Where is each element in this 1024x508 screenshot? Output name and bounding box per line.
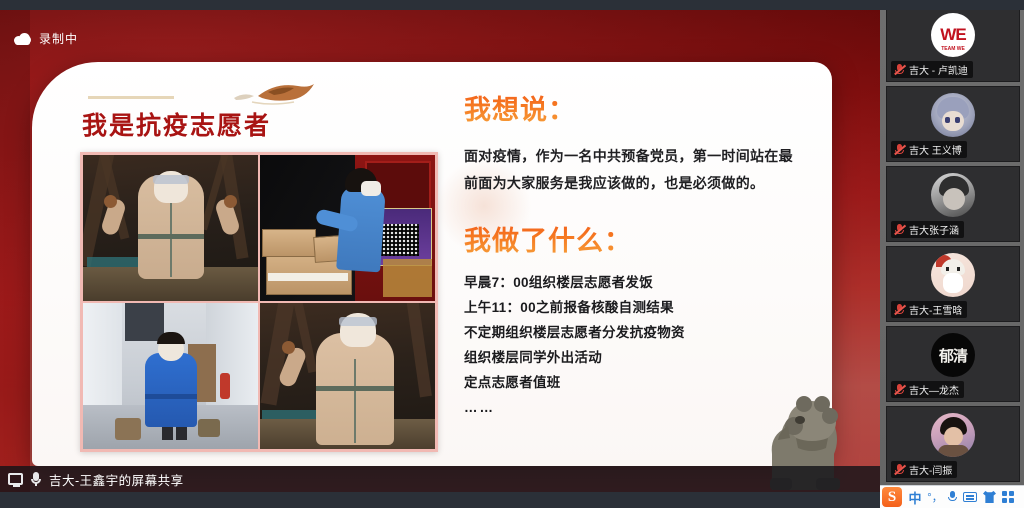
slide-text-column: 我想说： 面对疫情，作为一名中共预备党员，第一时间站在最前面为大家服务是我应该做… bbox=[464, 88, 794, 420]
list-item: 上午11：00之前报备核酸自测结果 bbox=[464, 295, 794, 320]
photo-volunteer-tan-ppe-thumbs-up bbox=[83, 155, 258, 301]
recording-badge: 录制中 bbox=[14, 30, 78, 47]
skin-shirt-icon[interactable] bbox=[983, 491, 996, 503]
mic-muted-icon bbox=[894, 384, 905, 396]
punctuation-toggle-icon[interactable]: °， bbox=[928, 489, 942, 505]
participant-name: 吉大 - 卢凯迪 bbox=[909, 62, 968, 77]
participant-tile[interactable]: WETEAM WE 吉大 - 卢凯迪 bbox=[886, 6, 1020, 82]
anime-character-avatar bbox=[931, 93, 975, 137]
page-title: 我是抗疫志愿者 bbox=[82, 106, 271, 142]
microphone-icon[interactable] bbox=[30, 472, 42, 486]
we-team-logo-avatar: WETEAM WE bbox=[931, 13, 975, 57]
heading-what-i-did: 我做了什么： bbox=[464, 219, 794, 258]
participant-nameplate: 吉大 - 卢凯迪 bbox=[891, 61, 973, 78]
participant-name: 吉大—龙杰 bbox=[909, 382, 959, 397]
participant-nameplate: 吉大—龙杰 bbox=[891, 381, 964, 398]
slide-paragraph: 面对疫情，作为一名中共预备党员，第一时间站在最前面为大家服务是我应该做的，也是必… bbox=[464, 143, 794, 197]
recording-label: 录制中 bbox=[39, 30, 78, 47]
brush-ornament-icon bbox=[228, 76, 320, 110]
cloud-icon bbox=[14, 33, 31, 45]
list-item: 不定期组织楼层志愿者分发抗疫物资 bbox=[464, 320, 794, 345]
presentation-slide: 我是抗疫志愿者 bbox=[32, 62, 832, 466]
mic-muted-icon bbox=[894, 144, 905, 156]
participant-tile[interactable]: 郁清 吉大—龙杰 bbox=[886, 326, 1020, 402]
mic-muted-icon bbox=[894, 64, 905, 76]
screen-share-icon bbox=[8, 473, 23, 485]
voice-input-icon[interactable] bbox=[948, 491, 957, 504]
title-rule bbox=[88, 96, 174, 99]
sogou-ime-toolbar[interactable]: S 中 °， bbox=[880, 485, 1024, 508]
participant-tile[interactable]: 吉大张子涵 bbox=[886, 166, 1020, 242]
mic-muted-icon bbox=[894, 224, 905, 236]
participant-name: 吉大 王义博 bbox=[909, 142, 962, 157]
meeting-window: 录制中 我是抗疫志愿者 bbox=[0, 0, 1024, 508]
list-item: 早晨7：00组织楼层志愿者发饭 bbox=[464, 270, 794, 295]
heading-i-want-to-say: 我想说： bbox=[464, 88, 794, 127]
participant-name: 吉大-王雪晗 bbox=[909, 302, 962, 317]
participant-name: 吉大-闫振 bbox=[909, 462, 952, 477]
screen-share-label: 吉大-王鑫宇的屏幕共享 bbox=[49, 470, 184, 489]
participant-nameplate: 吉大-王雪晗 bbox=[891, 301, 967, 318]
photo-grid bbox=[83, 155, 435, 449]
chinese-mode-icon[interactable]: 中 bbox=[908, 489, 922, 505]
photo-volunteer-corridor bbox=[83, 303, 258, 449]
window-top-chrome bbox=[0, 0, 1024, 10]
participant-tile[interactable]: 吉大-王雪晗 bbox=[886, 246, 1020, 322]
participant-nameplate: 吉大张子涵 bbox=[891, 221, 964, 238]
calligraphy-avatar: 郁清 bbox=[931, 333, 975, 377]
app-grid-icon[interactable] bbox=[1002, 491, 1014, 503]
shared-screen-stage[interactable]: 录制中 我是抗疫志愿者 bbox=[0, 10, 880, 492]
photo-grid-frame bbox=[80, 152, 438, 452]
calligraphy-avatar-text: 郁清 bbox=[939, 345, 967, 366]
mic-muted-icon bbox=[894, 464, 905, 476]
portrait-photo-avatar bbox=[931, 413, 975, 457]
photo-volunteer-salute bbox=[260, 303, 435, 449]
participant-name: 吉大张子涵 bbox=[909, 222, 959, 237]
soft-keyboard-icon[interactable] bbox=[963, 492, 977, 502]
photo-volunteer-packing-boxes bbox=[260, 155, 435, 301]
screen-share-status-bar[interactable]: 吉大-王鑫宇的屏幕共享 bbox=[0, 466, 880, 492]
grayscale-photo-avatar bbox=[931, 173, 975, 217]
participant-sidebar[interactable]: WETEAM WE 吉大 - 卢凯迪 吉大 王义博 吉大张子涵 bbox=[880, 0, 1024, 508]
list-item: 组织楼层同学外出活动 bbox=[464, 345, 794, 370]
stage-left-band bbox=[0, 10, 30, 492]
sogou-logo-icon[interactable]: S bbox=[882, 487, 902, 507]
mic-muted-icon bbox=[894, 304, 905, 316]
participant-tile[interactable]: 吉大 王义博 bbox=[886, 86, 1020, 162]
chibi-character-avatar bbox=[931, 253, 975, 297]
participant-nameplate: 吉大-闫振 bbox=[891, 461, 957, 478]
participant-nameplate: 吉大 王义博 bbox=[891, 141, 967, 158]
participant-tile[interactable]: 吉大-闫振 bbox=[886, 406, 1020, 482]
